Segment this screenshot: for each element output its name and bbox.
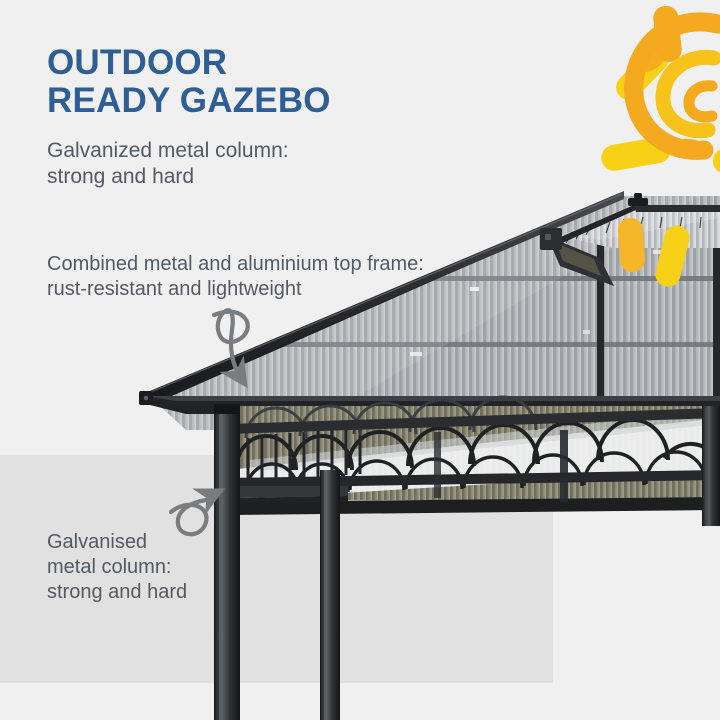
callout-galvanized-column-top: Galvanized metal column: strong and hard — [47, 138, 289, 190]
text-layer: OUTDOOR READY GAZEBO Galvanized metal co… — [0, 0, 720, 720]
callout-galvanised-column-bottom: Galvanised metal column: strong and hard — [47, 530, 187, 605]
product-image-canvas: OUTDOOR READY GAZEBO Galvanized metal co… — [0, 0, 720, 720]
page-title: OUTDOOR READY GAZEBO — [47, 44, 331, 120]
callout-top-frame: Combined metal and aluminium top frame: … — [47, 252, 424, 302]
